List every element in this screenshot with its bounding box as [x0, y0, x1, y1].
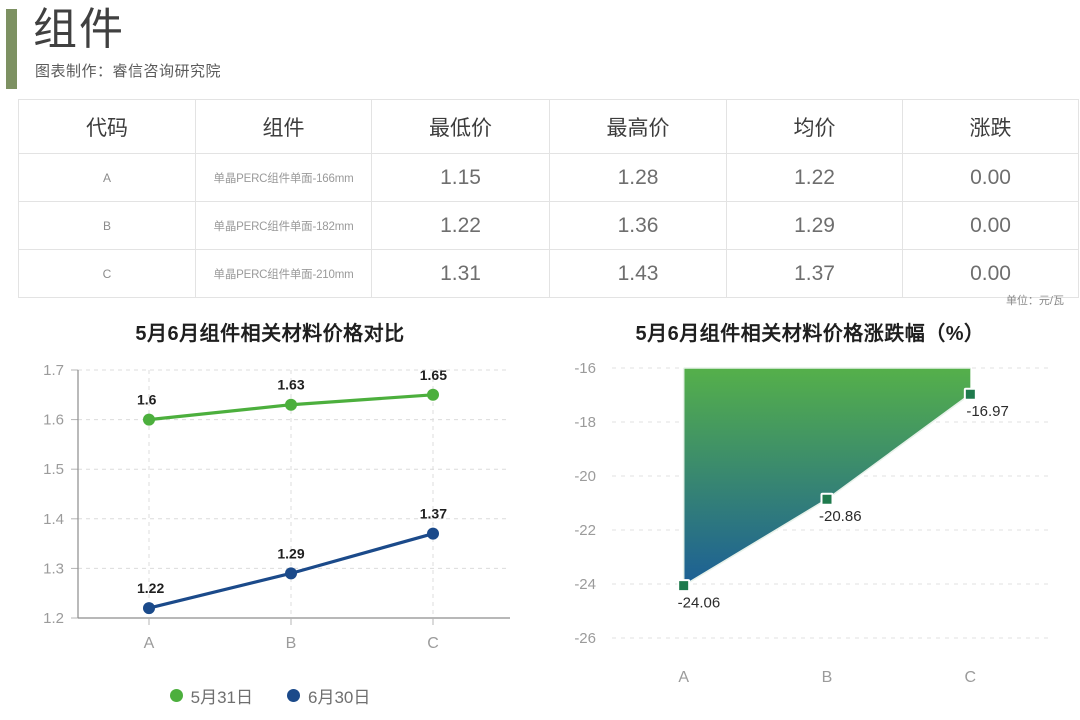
x-axis-tick-label: B	[286, 635, 297, 652]
cell-code: C	[19, 250, 196, 298]
y-axis-tick-label: -22	[574, 522, 596, 539]
cell-min: 1.31	[372, 250, 550, 298]
page-header: 组件 图表制作：睿信咨询研究院	[0, 0, 1080, 92]
data-point-marker	[285, 399, 297, 411]
cell-avg: 1.29	[727, 202, 903, 250]
column-header-name: 组件	[196, 100, 372, 154]
y-axis-tick-label: 1.2	[43, 610, 64, 627]
chart-left-title: 5月6月组件相关材料价格对比	[0, 317, 540, 346]
data-point-label: 1.65	[420, 367, 447, 383]
data-point-marker	[427, 389, 439, 401]
y-axis-tick-label: -20	[574, 468, 596, 485]
table-row: B 单晶PERC组件单面-182mm 1.22 1.36 1.29 0.00	[19, 202, 1079, 250]
chart-right-canvas: -16-18-20-22-24-26-24.06-20.86-16.97ABC	[540, 350, 1080, 710]
chart-left-legend: 5月31日 6月30日	[0, 683, 540, 708]
data-point-marker	[822, 494, 833, 505]
y-axis-tick-label: -18	[574, 414, 596, 431]
chart-price-comparison: 5月6月组件相关材料价格对比 1.21.31.41.51.61.7ABC1.61…	[0, 305, 540, 720]
area-fill	[684, 368, 971, 586]
data-point-marker	[143, 602, 155, 614]
price-table: 代码 组件 最低价 最高价 均价 涨跌 A 单晶PERC组件单面-166mm 1…	[18, 99, 1079, 298]
cell-change: 0.00	[903, 202, 1079, 250]
data-point-label: 1.29	[277, 545, 304, 561]
data-point-marker	[965, 389, 976, 400]
data-point-label: -24.06	[678, 595, 721, 612]
y-axis-tick-label: 1.6	[43, 412, 64, 429]
column-header-min: 最低价	[372, 100, 550, 154]
cell-min: 1.22	[372, 202, 550, 250]
cell-max: 1.43	[550, 250, 727, 298]
cell-avg: 1.22	[727, 154, 903, 202]
x-axis-tick-label: B	[822, 669, 833, 686]
page-title: 组件	[33, 2, 125, 58]
table-row: C 单晶PERC组件单面-210mm 1.31 1.43 1.37 0.00	[19, 250, 1079, 298]
legend-item-may31[interactable]: 5月31日	[170, 683, 253, 708]
data-point-label: 1.37	[420, 506, 447, 522]
y-axis-tick-label: 1.7	[43, 362, 64, 379]
data-point-label: 1.63	[277, 377, 304, 393]
column-header-change: 涨跌	[903, 100, 1079, 154]
legend-dot-icon	[287, 689, 300, 702]
cell-change: 0.00	[903, 154, 1079, 202]
y-axis-tick-label: 1.3	[43, 560, 64, 577]
data-point-marker	[285, 567, 297, 579]
legend-label: 6月30日	[308, 683, 370, 708]
cell-code: B	[19, 202, 196, 250]
data-point-marker	[143, 414, 155, 426]
data-point-label: 1.6	[137, 392, 157, 408]
cell-change: 0.00	[903, 250, 1079, 298]
chart-price-change-rate: 5月6月组件相关材料价格涨跌幅（%） -16-18-20-22-24-26-24…	[540, 305, 1080, 720]
data-point-marker	[427, 528, 439, 540]
chart-right-title: 5月6月组件相关材料价格涨跌幅（%）	[540, 317, 1080, 346]
legend-label: 5月31日	[191, 683, 253, 708]
data-point-label: -16.97	[966, 403, 1009, 420]
header-accent-bar	[6, 9, 17, 89]
x-axis-tick-label: C	[427, 635, 439, 652]
y-axis-tick-label: -26	[574, 630, 596, 647]
cell-name: 单晶PERC组件单面-210mm	[196, 250, 372, 298]
cell-name: 单晶PERC组件单面-166mm	[196, 154, 372, 202]
x-axis-tick-label: A	[678, 669, 689, 686]
data-point-label: -20.86	[819, 508, 862, 525]
x-axis-tick-label: A	[144, 635, 155, 652]
legend-item-jun30[interactable]: 6月30日	[287, 683, 370, 708]
cell-avg: 1.37	[727, 250, 903, 298]
cell-max: 1.28	[550, 154, 727, 202]
legend-dot-icon	[170, 689, 183, 702]
y-axis-tick-label: 1.4	[43, 511, 64, 528]
cell-max: 1.36	[550, 202, 727, 250]
y-axis-tick-label: -24	[574, 576, 596, 593]
column-header-avg: 均价	[727, 100, 903, 154]
chart-left-canvas: 1.21.31.41.51.61.7ABC1.61.631.651.221.29…	[0, 350, 540, 670]
data-point-marker	[678, 580, 689, 591]
page-subtitle: 图表制作：睿信咨询研究院	[35, 60, 221, 81]
table-row: A 单晶PERC组件单面-166mm 1.15 1.28 1.22 0.00	[19, 154, 1079, 202]
y-axis-tick-label: -16	[574, 360, 596, 377]
x-axis-tick-label: C	[965, 669, 977, 686]
data-point-label: 1.22	[137, 580, 164, 596]
cell-code: A	[19, 154, 196, 202]
table-header-row: 代码 组件 最低价 最高价 均价 涨跌	[19, 100, 1079, 154]
cell-min: 1.15	[372, 154, 550, 202]
column-header-code: 代码	[19, 100, 196, 154]
column-header-max: 最高价	[550, 100, 727, 154]
y-axis-tick-label: 1.5	[43, 461, 64, 478]
cell-name: 单晶PERC组件单面-182mm	[196, 202, 372, 250]
